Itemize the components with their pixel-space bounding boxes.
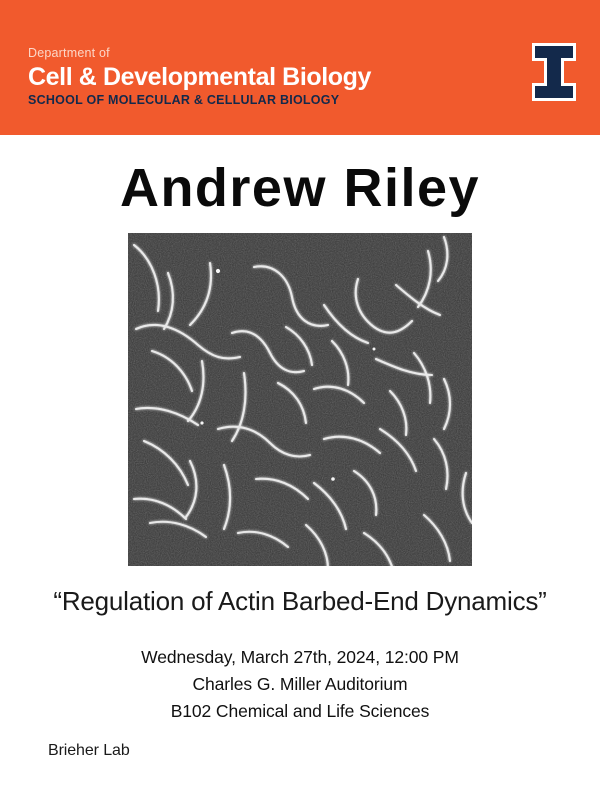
event-venue: Charles G. Miller Auditorium — [0, 671, 600, 698]
department-banner: Department of Cell & Developmental Biolo… — [0, 0, 600, 135]
seminar-poster: Department of Cell & Developmental Biolo… — [0, 0, 600, 800]
speaker-name: Andrew Riley — [0, 157, 600, 219]
department-name: Cell & Developmental Biology — [28, 63, 371, 91]
department-eyebrow: Department of — [28, 46, 371, 61]
department-banner-text: Department of Cell & Developmental Biolo… — [28, 46, 371, 108]
actin-filament-image — [128, 233, 472, 566]
school-name: SCHOOL OF MOLECULAR & CELLULAR BIOLOGY — [28, 93, 371, 108]
host-lab: Brieher Lab — [48, 740, 130, 762]
event-details: Wednesday, March 27th, 2024, 12:00 PM Ch… — [0, 644, 600, 725]
talk-title: “Regulation of Actin Barbed-End Dynamics… — [0, 585, 600, 617]
illinois-block-i-icon — [532, 43, 576, 101]
event-datetime: Wednesday, March 27th, 2024, 12:00 PM — [0, 644, 600, 671]
micrograph-figure — [128, 233, 472, 566]
event-building: B102 Chemical and Life Sciences — [0, 698, 600, 725]
